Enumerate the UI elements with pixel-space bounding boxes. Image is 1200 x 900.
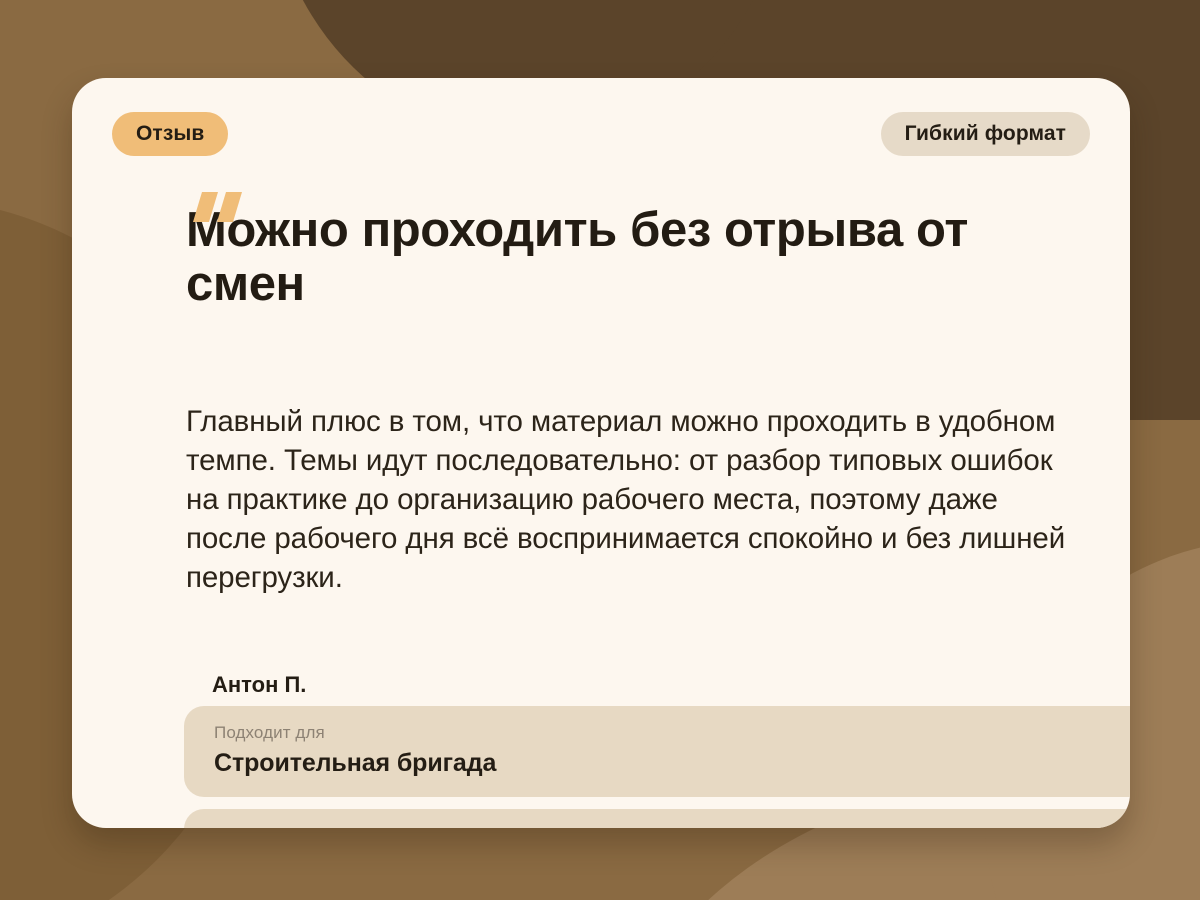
badge-review-type[interactable]: Отзыв [112,112,228,156]
page-title: Можно проходить без отрыва от смен [186,186,1086,312]
list-item[interactable]: Подходит для Строительная бригада [184,706,1130,797]
quote-mark-icon [192,192,248,234]
meta-chip-list: Подходит для Строительная бригада Профес… [184,706,1130,828]
card-header: Отзыв Гибкий формат [72,108,1130,160]
quote-heading-row: Можно проходить без отрыва от смен [114,186,1086,312]
review-author-name: Антон П. [212,672,306,698]
list-item[interactable]: Профессия Вальщик леса [184,809,1130,828]
chip-label: Подходит для [214,723,1130,743]
chip-value: Строительная бригада [214,749,1130,778]
chip-label: Профессия [214,826,1130,828]
badge-format[interactable]: Гибкий формат [881,112,1090,156]
review-body-text: Главный плюс в том, что материал можно п… [186,403,1066,598]
review-card: Отзыв Гибкий формат Можно проходить без … [72,78,1130,828]
